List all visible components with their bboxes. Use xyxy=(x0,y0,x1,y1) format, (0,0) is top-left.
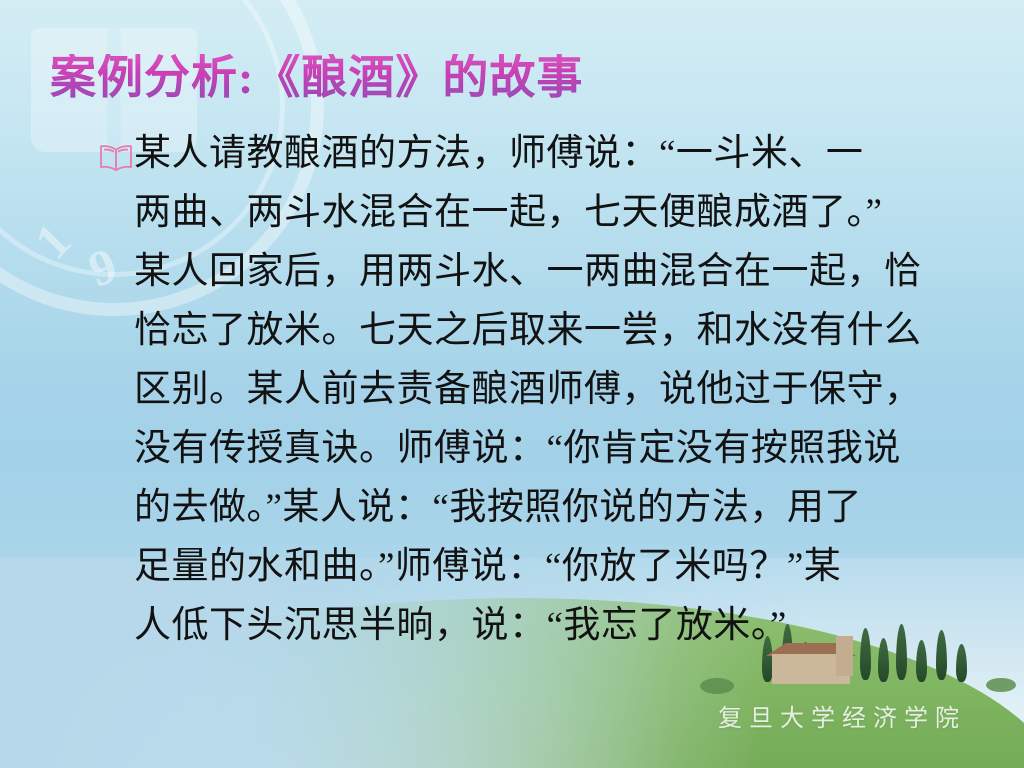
cypress-tree xyxy=(956,644,967,682)
body-lines: 某人请教酿酒的方法，师傅说：“一斗米、一 两曲、两斗水混合在一起，七天便酿成酒了… xyxy=(134,124,954,655)
open-book-icon xyxy=(98,132,134,162)
body-line: 人低下头沉思半晌，说：“我忘了放米。” xyxy=(134,596,954,655)
body-line: 两曲、两斗水混合在一起，七天便酿成酒了。” xyxy=(134,183,954,242)
body-line: 区别。某人前去责备酿酒师傅，说他过于保守， xyxy=(134,360,954,419)
body-line: 足量的水和曲。”师傅说：“你放了米吗？”某 xyxy=(134,537,954,596)
body-line: 恰忘了放米。七天之后取来一尝，和水没有什么 xyxy=(134,301,954,360)
villa-building xyxy=(772,654,850,684)
footer-institution: 复旦大学经济学院 xyxy=(718,698,966,733)
slide-body: 某人请教酿酒的方法，师傅说：“一斗米、一 两曲、两斗水混合在一起，七天便酿成酒了… xyxy=(98,124,954,655)
body-line: 没有传授真诀。师傅说：“你肯定没有按照我说 xyxy=(134,419,954,478)
slide-title: 案例分析:《酿酒》的故事 xyxy=(50,54,583,102)
seal-arc-label: FUDAN UNIVERSITY xyxy=(0,0,76,16)
body-line: 某人请教酿酒的方法，师傅说：“一斗米、一 xyxy=(134,124,954,183)
body-line: 的去做。”某人说：“我按照你说的方法，用了 xyxy=(134,478,954,537)
body-paragraph: 某人请教酿酒的方法，师傅说：“一斗米、一 两曲、两斗水混合在一起，七天便酿成酒了… xyxy=(98,124,954,655)
presentation-slide: FUDAN UNIVERSITY 1 9 案例分析:《酿酒》的故事 xyxy=(0,0,1024,768)
shrub xyxy=(700,678,734,694)
body-line: 某人回家后，用两斗水、一两曲混合在一起，恰 xyxy=(134,242,954,301)
shrub xyxy=(986,678,1016,692)
